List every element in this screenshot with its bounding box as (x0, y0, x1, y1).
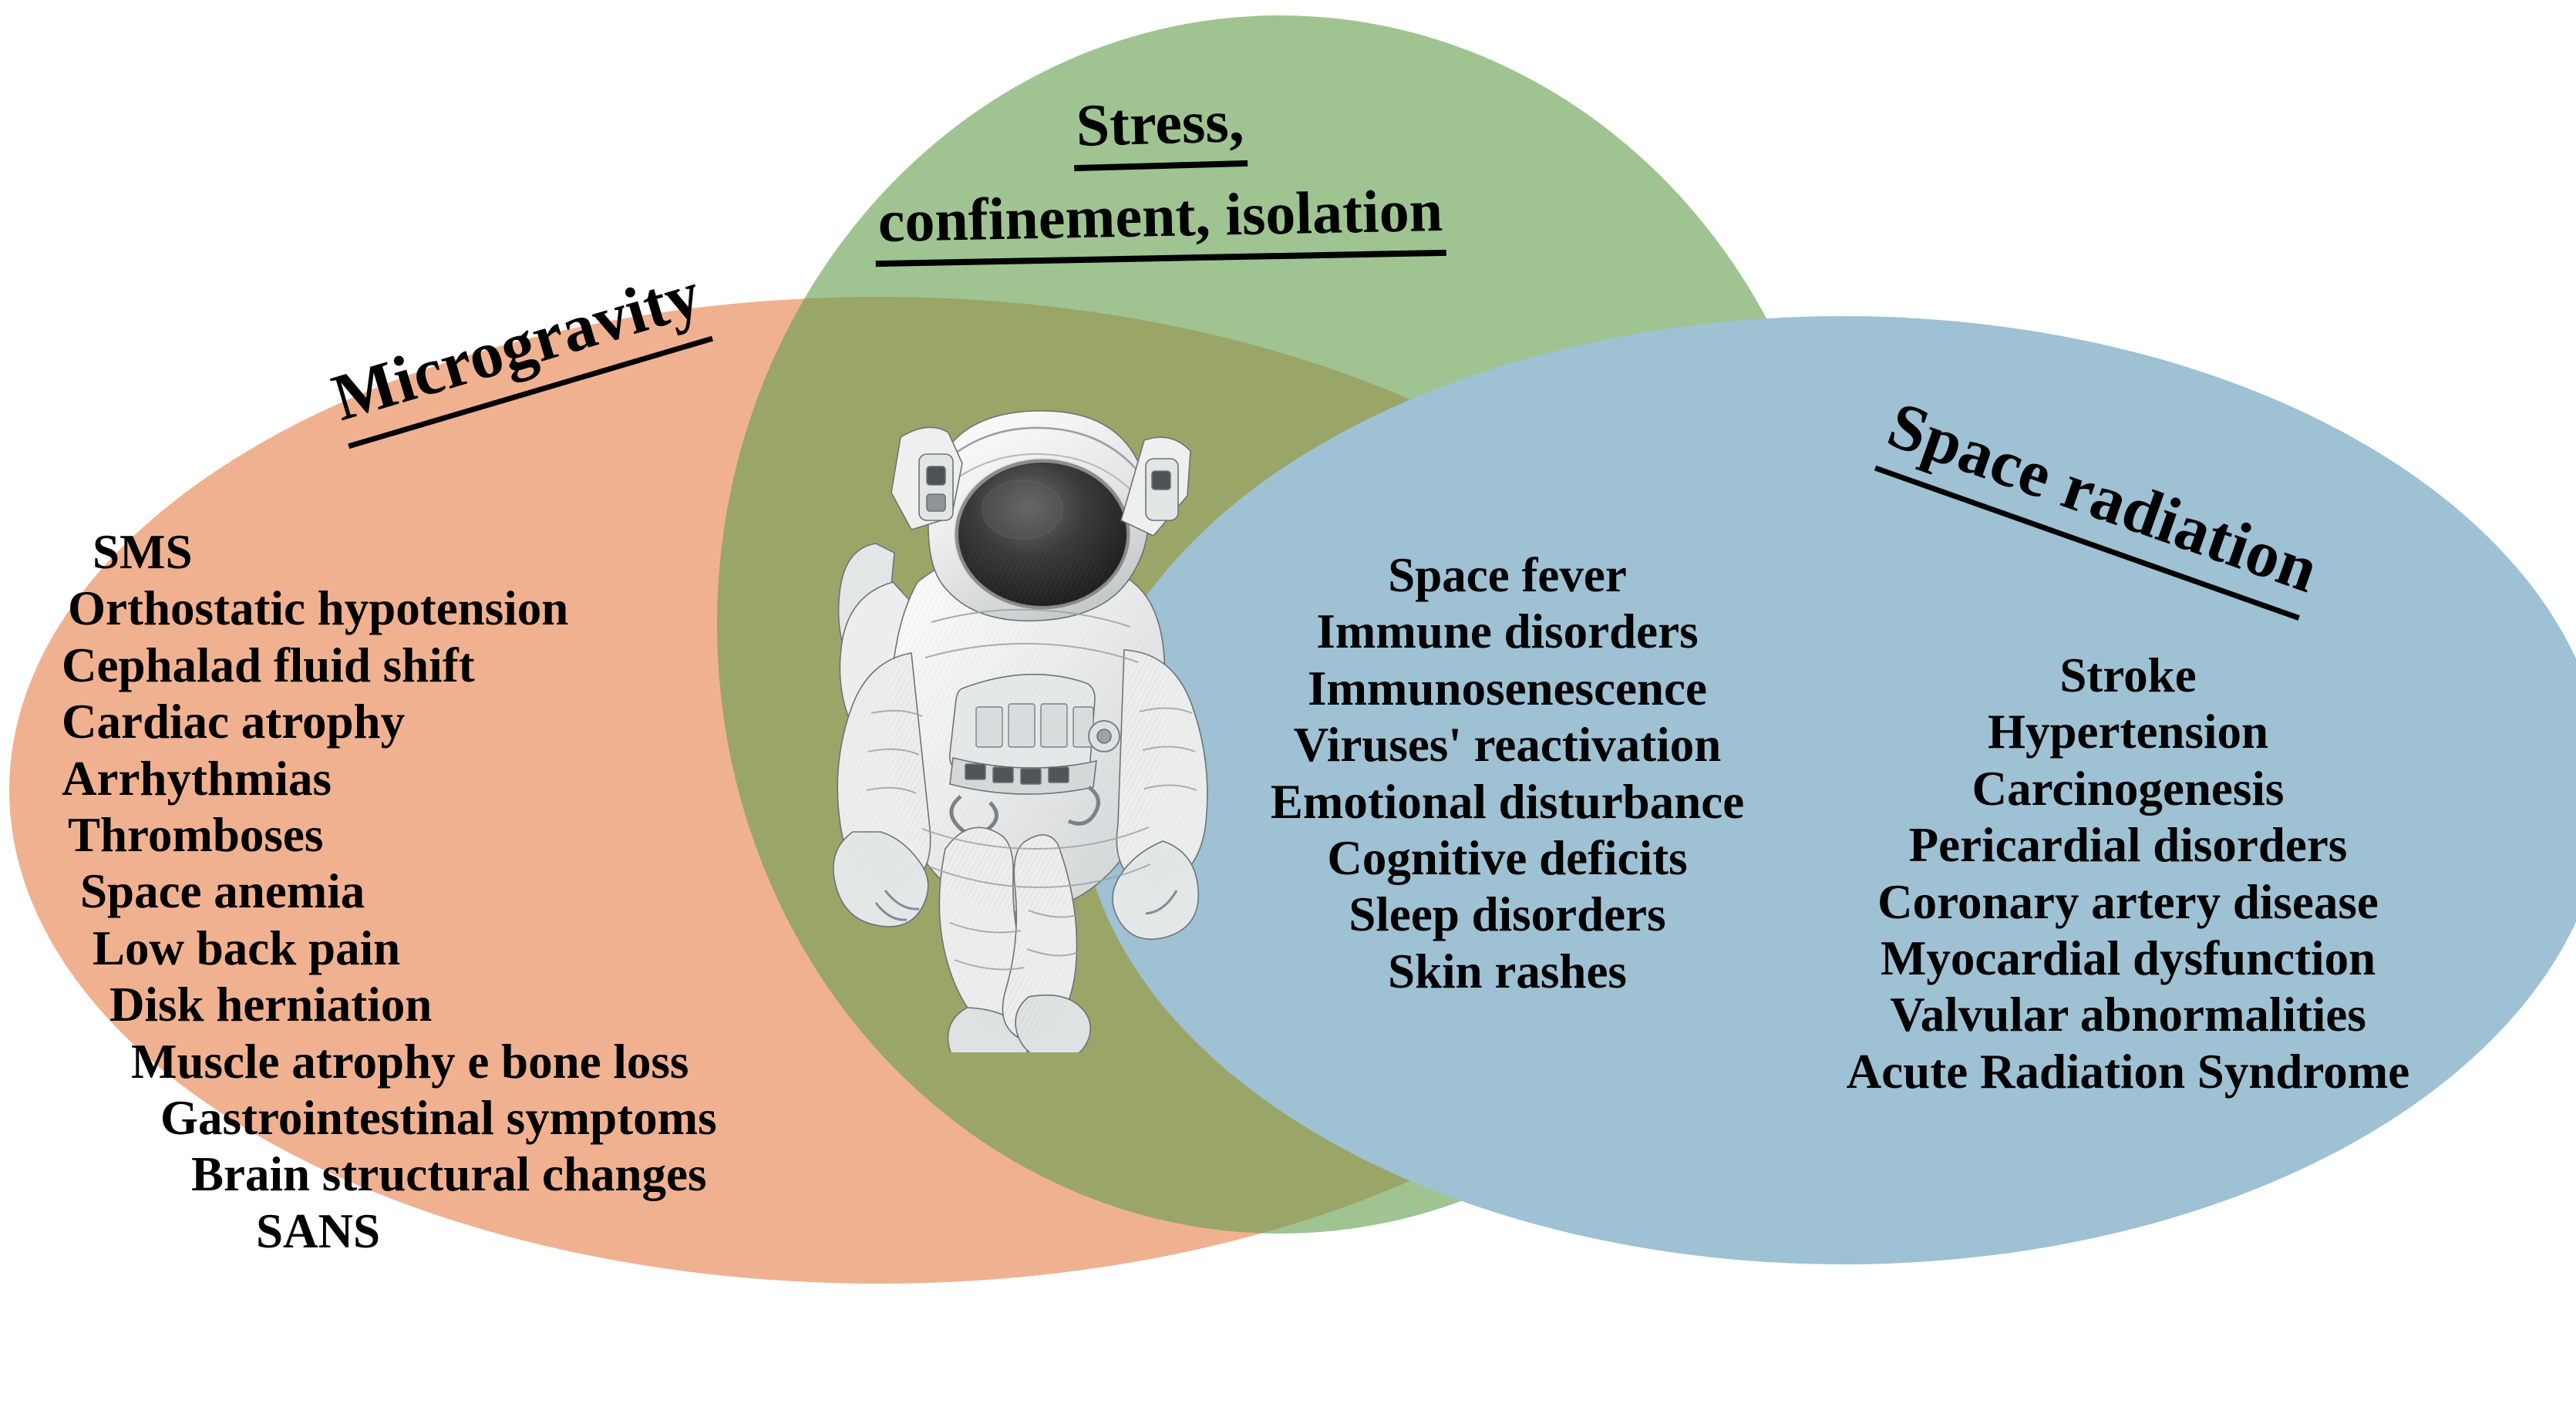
list-item: SANS (256, 1203, 717, 1260)
item-list-stress: Space feverImmune disordersImmunosenesce… (1271, 547, 1744, 1000)
list-item: Hypertension (1847, 704, 2409, 760)
set-title-stress: Stress, confinement, isolation (875, 89, 1446, 261)
list-item: Brain structural changes (191, 1146, 717, 1203)
list-item: Sleep disorders (1271, 887, 1744, 943)
list-item: Disk herniation (109, 977, 717, 1033)
set-title-stress-line1: Stress, (1072, 86, 1248, 171)
list-item: Immune disorders (1271, 604, 1744, 660)
list-item: Low back pain (93, 921, 717, 977)
list-item: Emotional disturbance (1271, 774, 1744, 830)
list-item: SMS (93, 524, 717, 581)
list-item: Cognitive deficits (1271, 830, 1744, 887)
astronaut-illustration (802, 351, 1234, 1052)
list-item: Orthostatic hypotension (68, 581, 717, 637)
list-item: Carcinogenesis (1847, 761, 2409, 817)
list-item: Myocardial dysfunction (1847, 931, 2409, 987)
item-list-microgravity: SMSOrthostatic hypotensionCephalad fluid… (62, 524, 717, 1260)
list-item: Acute Radiation Syndrome (1847, 1044, 2409, 1100)
list-item: Cardiac atrophy (62, 694, 717, 750)
list-item: Skin rashes (1271, 944, 1744, 1000)
list-item: Arrhythmias (62, 751, 717, 807)
list-item: Coronary artery disease (1847, 874, 2409, 931)
list-item: Valvular abnormalities (1847, 987, 2409, 1043)
set-title-stress-line2: confinement, isolation (874, 176, 1446, 267)
list-item: Space fever (1271, 547, 1744, 604)
item-list-space-radiation: StrokeHypertensionCarcinogenesisPericard… (1847, 648, 2409, 1100)
list-item: Thromboses (68, 807, 717, 863)
list-item: Immunosenescence (1271, 661, 1744, 717)
list-item: Pericardial disorders (1847, 817, 2409, 873)
list-item: Viruses' reactivation (1271, 717, 1744, 773)
list-item: Stroke (1847, 648, 2409, 704)
list-item: Space anemia (80, 863, 717, 920)
list-item: Cephalad fluid shift (62, 638, 717, 694)
venn-diagram-canvas: Microgravity Stress, confinement, isolat… (0, 0, 2576, 1407)
list-item: Muscle atrophy e bone loss (131, 1034, 717, 1090)
list-item: Gastrointestinal symptoms (160, 1090, 717, 1146)
